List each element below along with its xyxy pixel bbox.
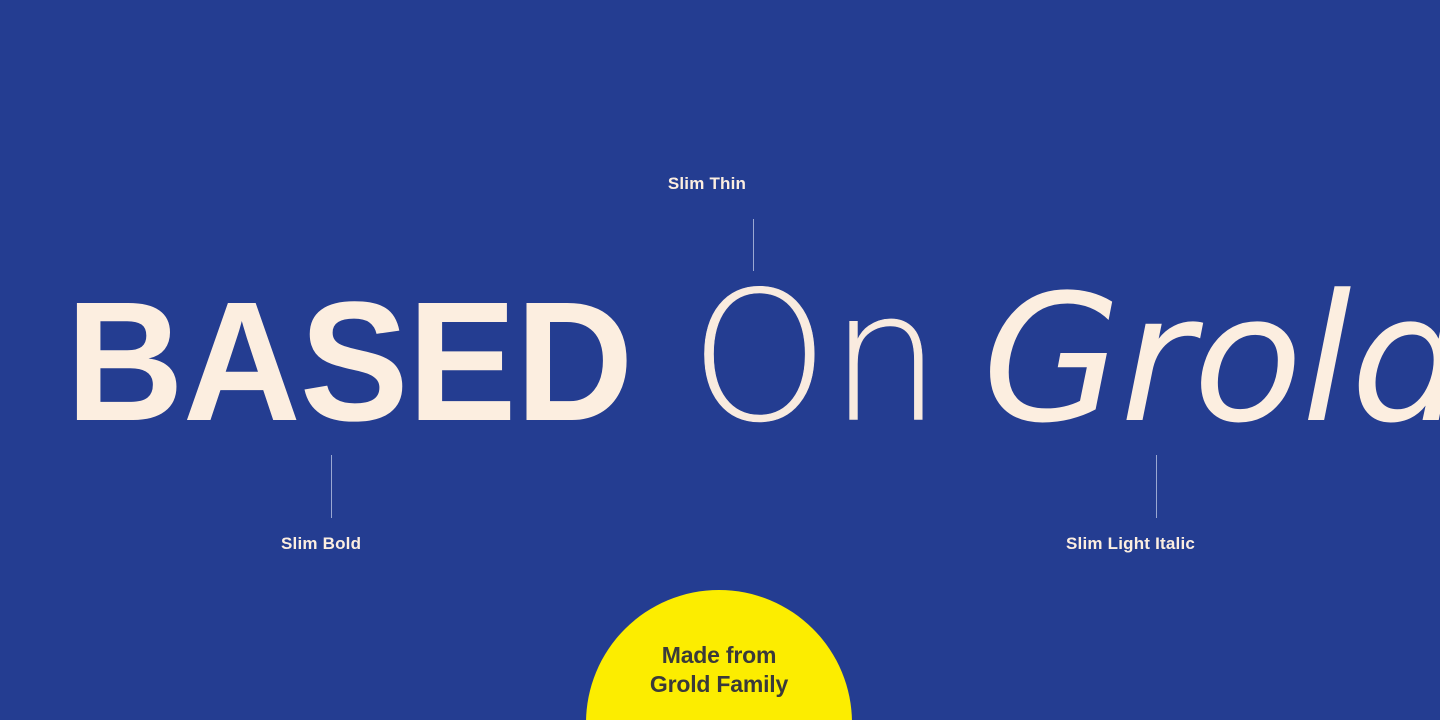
annotation-label-slim-thin: Slim Thin — [0, 174, 1427, 194]
leader-line-slim-light-italic — [1156, 455, 1157, 518]
badge-line-1: Made from — [662, 641, 777, 670]
headline: BASED On Grold — [0, 272, 1440, 442]
leader-line-slim-bold — [331, 455, 332, 518]
headline-word-on: On — [690, 268, 942, 448]
badge-line-2: Grold Family — [650, 670, 788, 699]
type-specimen-canvas: Slim Thin BASED On Grold Slim Bold Slim … — [0, 0, 1440, 720]
headline-word-based: BASED — [66, 277, 632, 447]
made-from-badge: Made from Grold Family — [586, 590, 852, 720]
headline-word-grold: Grold — [982, 272, 1440, 448]
annotation-label-slim-bold: Slim Bold — [281, 534, 361, 554]
annotation-label-slim-light-italic: Slim Light Italic — [1066, 534, 1195, 554]
